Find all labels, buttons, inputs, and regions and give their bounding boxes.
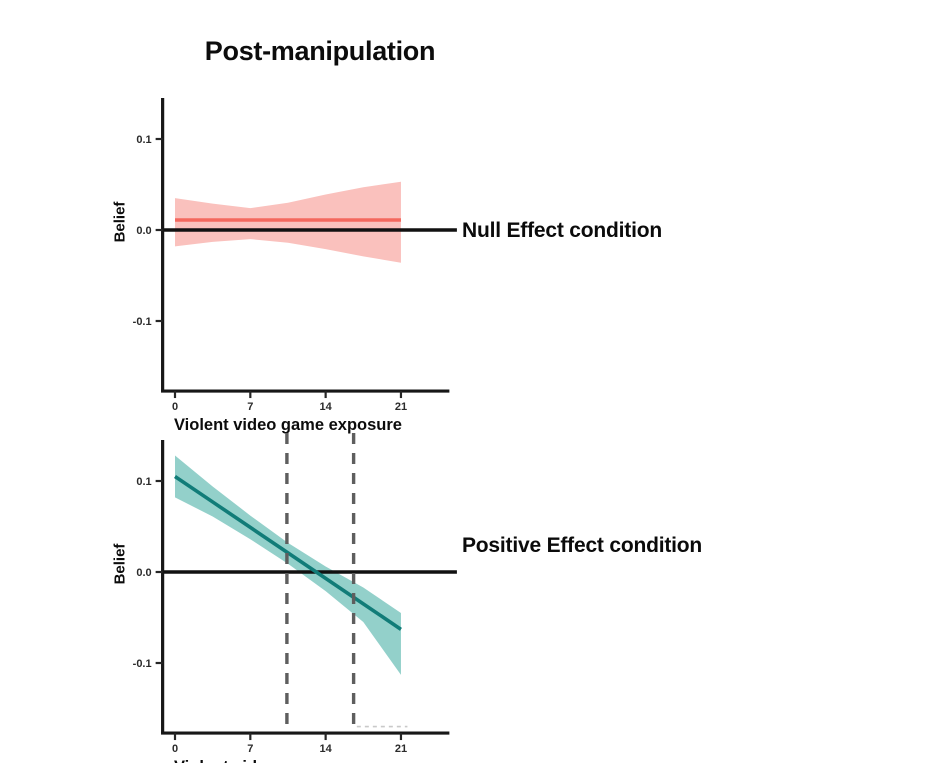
x-axis-title: Violent video game exposure [174, 758, 402, 763]
legend-label-null-effect: Null Effect condition [462, 219, 662, 243]
confidence-ribbon [175, 182, 401, 263]
chart-panel-null-effect: 0714210.10.0-0.1Violent video game expos… [100, 70, 450, 415]
positive-effect-plot: 0714210.10.0-0.1Violent video game expos… [100, 412, 450, 757]
y-tick-label: 0.0 [136, 225, 151, 237]
y-axis-title: Belief [112, 201, 129, 243]
y-axis-title: Belief [112, 543, 129, 585]
y-tick-label: -0.1 [133, 658, 152, 670]
y-tick-label: 0.0 [136, 567, 151, 579]
y-tick-label: 0.1 [136, 134, 151, 146]
legend-label-positive-effect: Positive Effect condition [462, 534, 702, 558]
figure-post-manipulation: Post-manipulation 0714210.10.0-0.1Violen… [0, 0, 945, 763]
x-tick-label: 0 [172, 743, 178, 755]
null-effect-plot: 0714210.10.0-0.1Violent video game expos… [100, 70, 450, 415]
x-tick-label: 7 [247, 743, 253, 755]
chart-panel-positive-effect: 0714210.10.0-0.1Violent video game expos… [100, 412, 450, 757]
x-tick-label: 21 [395, 743, 407, 755]
page-title: Post-manipulation [0, 36, 640, 67]
y-tick-label: 0.1 [136, 476, 151, 488]
x-tick-label: 14 [320, 743, 333, 755]
y-tick-label: -0.1 [133, 316, 152, 328]
